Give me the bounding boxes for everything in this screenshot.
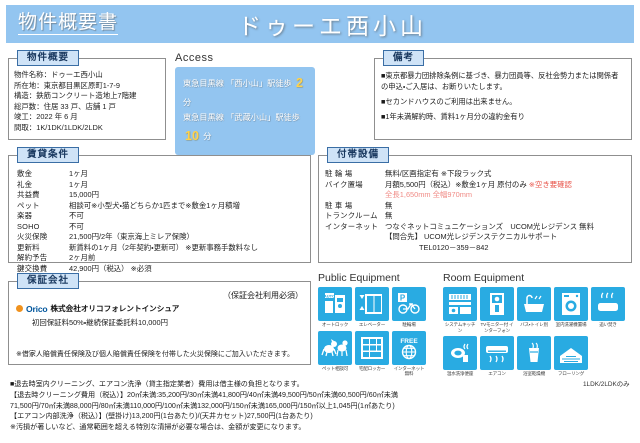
public-equipment-section: Public Equipment AUTO オートロック: [318, 272, 426, 377]
overview-rows: 物件名称：ドゥーエ西小山 所在地：東京都目黒区原町1-7-9 構造：鉄筋コンクリ…: [9, 59, 165, 133]
equipment-caption: 浴室乾燥機: [517, 371, 551, 377]
overview-row: 構造：鉄筋コンクリート造地上7階建: [14, 91, 161, 102]
rental-terms-tab-label: 賃貸条件: [17, 147, 79, 163]
equipment-caption: オートロック: [318, 322, 352, 328]
rental-terms-panel: 賃貸条件 敷金1ヶ月 礼金1ヶ月 共益費15,000円 ペット相談可※小型犬・猫…: [8, 155, 311, 263]
equipment-caption: システムキッチン: [443, 322, 477, 333]
overview-row-value: 住居 33 戸、店舗 1 戸: [44, 102, 116, 113]
rental-terms-value: 1ヶ月: [69, 180, 306, 191]
free-internet-icon: FREE: [392, 331, 426, 365]
access-route: 東急目黒線 「武蔵小山」駅徒歩 10 分: [183, 110, 307, 148]
rental-terms-value: 42,900円（税込） ※必須: [69, 264, 306, 275]
rental-terms-value: 21,500円/2年（東京海上ミレア保険）: [69, 232, 306, 243]
bath-toilet-separate-icon: [517, 287, 551, 321]
equipment-caption: 追い焚き: [591, 322, 625, 328]
footer-notes: ■退去時室内クリーニング、エアコン洗浄（貸主指定業者）費用は借主様の負担となりま…: [10, 379, 632, 433]
equipment-item-bathtub: 追い焚き: [591, 287, 625, 333]
overview-row: 竣工：2022 年 6 月: [14, 112, 161, 123]
facilities-label: 駐 輪 場: [325, 169, 385, 180]
auto-lock-icon: AUTO: [318, 287, 352, 321]
rental-terms-value: 1ヶ月: [69, 169, 306, 180]
facilities-label: トランクルーム: [325, 211, 385, 222]
overview-row: 物件名称：ドゥーエ西小山: [14, 70, 161, 81]
facilities-value: 無: [385, 211, 626, 222]
washer-space-icon: [554, 287, 588, 321]
access-title: Access: [175, 52, 315, 64]
facilities-row: インターネット つなぐネットコミュニケーションズ UCOM光レジデンス 無料: [325, 222, 626, 233]
facilities-value: 月額5,500円（税込）※敷金1ヶ月 原付のみ: [385, 180, 527, 189]
facilities-label: バイク置場: [325, 180, 385, 191]
access-route: 東急目黒線 「西小山」駅徒歩 2 分: [183, 72, 307, 110]
equipment-item-auto-lock: AUTO オートロック: [318, 287, 352, 328]
equipment-item-pets-allowed: ペット相談可: [318, 331, 352, 377]
pets-allowed-icon: [318, 331, 352, 365]
rental-terms-value: 不可: [69, 211, 306, 222]
guarantee-required-note: （保証会社利用必須）: [223, 290, 303, 301]
public-equipment-grid: AUTO オートロック: [318, 287, 426, 377]
guarantee-tab-label: 保証会社: [17, 273, 79, 289]
overview-row-value: ドゥーエ西小山: [51, 70, 103, 81]
rental-terms-row: 楽器不可: [17, 211, 306, 222]
equipment-caption: ペット相談可: [318, 366, 352, 372]
page-title: 物件概要書: [18, 13, 118, 36]
rental-terms-label: 解約予告: [17, 253, 69, 264]
overview-panel: 物件概要 物件名称：ドゥーエ西小山 所在地：東京都目黒区原町1-7-9 構造：鉄…: [8, 58, 166, 140]
access-station: 「武蔵小山」駅徒歩: [226, 113, 300, 122]
rental-terms-label: ペット: [17, 201, 69, 212]
rental-terms-label: 火災保険: [17, 232, 69, 243]
equipment-caption: 温水洗浄便座: [443, 371, 477, 377]
overview-row-value: 東京都目黒区原町1-7-9: [44, 81, 120, 92]
equipment-item-system-kitchen: システムキッチン: [443, 287, 477, 333]
rental-terms-label: 礼金: [17, 180, 69, 191]
delivery-locker-icon: [355, 331, 389, 365]
remark-item: ■東京都暴力団排除条例に基づき、暴力団員等、反社会勢力または関係者の申込・ご入居…: [381, 71, 625, 93]
guarantee-panel: 保証会社 （保証会社利用必須） Orico 株式会社オリコフォレントインシュア …: [8, 281, 311, 365]
building-name: ドゥーエ西小山: [238, 7, 427, 41]
rental-terms-row: 解約予告2ヶ月前: [17, 253, 306, 264]
remarks-tab-label: 備考: [383, 50, 424, 66]
facilities-value: 無: [385, 201, 626, 212]
footer-line: 【退去時クリーニング費用（税込）】20㎡未満:35,200円/30㎡未満41,8…: [10, 390, 632, 401]
remark-item: ■セカンドハウスのご利用は出来ません。: [381, 97, 625, 108]
equipment-item-dish-washer: 浴室乾燥機: [517, 336, 551, 377]
access-unit: 分: [183, 98, 191, 107]
rental-terms-row: 敷金1ヶ月: [17, 169, 306, 180]
access-routes: 東急目黒線 「西小山」駅徒歩 2 分 東急目黒線 「武蔵小山」駅徒歩 10 分: [175, 67, 315, 155]
access-section: Access 東急目黒線 「西小山」駅徒歩 2 分 東急目黒線 「武蔵小山」駅徒…: [175, 52, 315, 155]
rental-terms-label: 楽器: [17, 211, 69, 222]
footer-line: ※汚損が著しいなど、通常範囲を超える特別な清掃が必要な場合は、金額が変更になりま…: [10, 422, 632, 433]
remark-item: ■1年未満解約時、賃料1ヶ月分の違約金有り: [381, 112, 625, 123]
overview-row-label: 総戸数: [14, 102, 36, 113]
access-line: 東急目黒線: [183, 79, 224, 88]
guarantee-company-name: 株式会社オリコフォレントインシュア: [50, 303, 179, 314]
system-kitchen-icon: [443, 287, 477, 321]
overview-row-label: 所在地: [14, 81, 36, 92]
overview-row-label: 竣工: [14, 112, 29, 123]
svg-text:AUTO: AUTO: [324, 293, 335, 298]
guarantee-company-line: Orico 株式会社オリコフォレントインシュア: [16, 303, 303, 314]
rental-terms-label: SOHO: [17, 222, 69, 233]
document-header: 物件概要書 ドゥーエ西小山: [6, 5, 634, 43]
room-equipment-grid: システムキッチン TVモニター付 インターフォン: [443, 287, 630, 377]
facilities-tab-label: 付帯設備: [327, 147, 389, 163]
facilities-contact-tel: TEL0120－359－842: [385, 243, 626, 254]
orico-bullet-icon: [16, 305, 23, 312]
facilities-panel: 付帯設備 駐 輪 場 無料/区画指定有 ※下段ラック式 バイク置場 月額5,50…: [318, 155, 632, 263]
access-line: 東急目黒線: [183, 113, 224, 122]
facilities-contact-label: 【問合先】: [385, 232, 422, 241]
rental-terms-label: 更新料: [17, 243, 69, 254]
facilities-label: インターネット: [325, 222, 385, 233]
air-conditioner-icon: [480, 336, 514, 370]
overview-row: 間取：1K/1DK/1LDK/2LDK: [14, 123, 161, 134]
rental-terms-label: 敷金: [17, 169, 69, 180]
rental-terms-value: 新賃料の1ヶ月（2年契約・更新可） ※更新事務手数料なし: [69, 243, 306, 254]
equipment-item-tv-intercom: TVモニター付 インターフォン: [480, 287, 514, 333]
rental-terms-row: 更新料新賃料の1ヶ月（2年契約・更新可） ※更新事務手数料なし: [17, 243, 306, 254]
dish-washer-icon: [517, 336, 551, 370]
bathtub-icon: [591, 287, 625, 321]
equipment-item-elevator: エレベーター: [355, 287, 389, 328]
access-station: 「西小山」駅徒歩: [226, 79, 292, 88]
rental-terms-value: 不可: [69, 222, 306, 233]
equipment-caption: エアコン: [480, 371, 514, 377]
guarantee-insurance-note: ※借家人賠償責任保険及び個人賠償責任保険を付帯した火災保険にご加入いただきます。: [16, 350, 303, 359]
overview-row-label: 物件名称: [14, 70, 44, 81]
equipment-caption: エレベーター: [355, 322, 389, 328]
facilities-row: トランクルーム 無: [325, 211, 626, 222]
rental-terms-value: 2ヶ月前: [69, 253, 306, 264]
facilities-availability-note: ※空き要確認: [529, 180, 572, 189]
facilities-contact-row: 【問合先】 UCOM光レジデンステクニカルサポート: [325, 232, 626, 243]
facilities-label: 駐 車 場: [325, 201, 385, 212]
rental-terms-row: 礼金1ヶ月: [17, 180, 306, 191]
room-equipment-title: Room Equipment: [443, 272, 630, 284]
elevator-icon: [355, 287, 389, 321]
equipment-item-flooring: フローリング: [554, 336, 588, 377]
equipment-item-warm-washlet: 温水洗浄便座: [443, 336, 477, 377]
flooring-icon: [554, 336, 588, 370]
facilities-value: つなぐネットコミュニケーションズ UCOM光レジデンス 無料: [385, 222, 626, 233]
equipment-item-bath-toilet-separate: バス・トイレ別: [517, 287, 551, 333]
equipment-item-air-conditioner: エアコン: [480, 336, 514, 377]
facilities-size-note: 全長1,650mm 全幅970mm: [385, 190, 626, 201]
overview-row-label: 間取: [14, 123, 29, 134]
overview-row-label: 構造: [14, 91, 29, 102]
warm-washlet-icon: [443, 336, 477, 370]
facilities-row: 駐 輪 場 無料/区画指定有 ※下段ラック式: [325, 169, 626, 180]
overview-row-value: 鉄筋コンクリート造地上7階建: [36, 91, 136, 102]
rental-terms-row: 共益費15,000円: [17, 190, 306, 201]
overview-tab-label: 物件概要: [17, 50, 79, 66]
svg-text:FREE: FREE: [400, 338, 418, 345]
overview-row-value: 2022 年 6 月: [36, 112, 78, 123]
equipment-item-delivery-locker: 宅配ロッカー: [355, 331, 389, 377]
rental-terms-row: 火災保険21,500円/2年（東京海上ミレア保険）: [17, 232, 306, 243]
rental-terms-value: 15,000円: [69, 190, 306, 201]
equipment-item-washer-space: 室内洗濯機置場: [554, 287, 588, 333]
facilities-rows: 駐 輪 場 無料/区画指定有 ※下段ラック式 バイク置場 月額5,500円（税込…: [319, 156, 631, 253]
equipment-caption: フローリング: [554, 371, 588, 377]
equipment-caption: 室内洗濯機置場: [554, 322, 588, 328]
facilities-value: 無料/区画指定有 ※下段ラック式: [385, 169, 626, 180]
overview-row-value: 1K/1DK/1LDK/2LDK: [36, 123, 103, 134]
facilities-tel-row: TEL0120－359－842: [325, 243, 626, 254]
rental-terms-row: SOHO不可: [17, 222, 306, 233]
public-equipment-title: Public Equipment: [318, 272, 426, 284]
rental-terms-row: ペット相談可※小型犬・猫どちらか1匹まで※敷金1ヶ月積増: [17, 201, 306, 212]
facilities-row: バイク置場 月額5,500円（税込）※敷金1ヶ月 原付のみ ※空き要確認: [325, 180, 626, 191]
facilities-row: 全長1,650mm 全幅970mm: [325, 190, 626, 201]
access-walk-minutes: 10: [183, 129, 201, 143]
room-equipment-section: Room Equipment システムキッチン: [443, 272, 630, 388]
access-walk-minutes: 2: [294, 76, 305, 90]
bicycle-parking-icon: P: [392, 287, 426, 321]
guarantee-fee: 初回保証料50%・継続保証委託料10,000円: [32, 317, 303, 328]
rental-terms-rows: 敷金1ヶ月 礼金1ヶ月 共益費15,000円 ペット相談可※小型犬・猫どちらか1…: [9, 156, 310, 274]
rental-terms-value: 相談可※小型犬・猫どちらか1匹まで※敷金1ヶ月積増: [69, 201, 306, 212]
equipment-item-free-internet: FREE インターネット 無料: [392, 331, 426, 377]
remarks-list: ■東京都暴力団排除条例に基づき、暴力団員等、反社会勢力または関係者の申込・ご入居…: [375, 59, 631, 123]
tv-intercom-icon: [480, 287, 514, 321]
facilities-row: 駐 車 場 無: [325, 201, 626, 212]
overview-row: 所在地：東京都目黒区原町1-7-9: [14, 81, 161, 92]
equipment-caption: インターネット 無料: [392, 366, 426, 377]
rental-terms-label: 共益費: [17, 190, 69, 201]
equipment-caption: 宅配ロッカー: [355, 366, 389, 372]
footer-line: 【エアコン内部洗浄（税込）】(壁掛け)13,200円(1台あたり)/(天井カセッ…: [10, 411, 632, 422]
facilities-contact-name: UCOM光レジデンステクニカルサポート: [424, 232, 557, 241]
equipment-caption: バス・トイレ別: [517, 322, 551, 328]
equipment-caption: TVモニター付 インターフォン: [480, 322, 514, 333]
svg-text:P: P: [400, 294, 406, 303]
equipment-item-bicycle-parking: P 駐輪場: [392, 287, 426, 328]
access-unit: 分: [203, 132, 211, 141]
guarantee-company-brand: Orico: [26, 304, 47, 314]
footer-line: 71,500円/70㎡未満88,000円/80㎡未満110,000円/100㎡未…: [10, 401, 632, 412]
footer-line: ■退去時室内クリーニング、エアコン洗浄（貸主指定業者）費用は借主様の負担となりま…: [10, 379, 632, 390]
overview-row: 総戸数：住居 33 戸、店舗 1 戸: [14, 102, 161, 113]
remarks-panel: 備考 ■東京都暴力団排除条例に基づき、暴力団員等、反社会勢力または関係者の申込・…: [374, 58, 632, 140]
property-summary-sheet: 物件概要書 ドゥーエ西小山 物件概要 物件名称：ドゥーエ西小山 所在地：東京都目…: [0, 0, 640, 443]
equipment-caption: 駐輪場: [392, 322, 426, 328]
